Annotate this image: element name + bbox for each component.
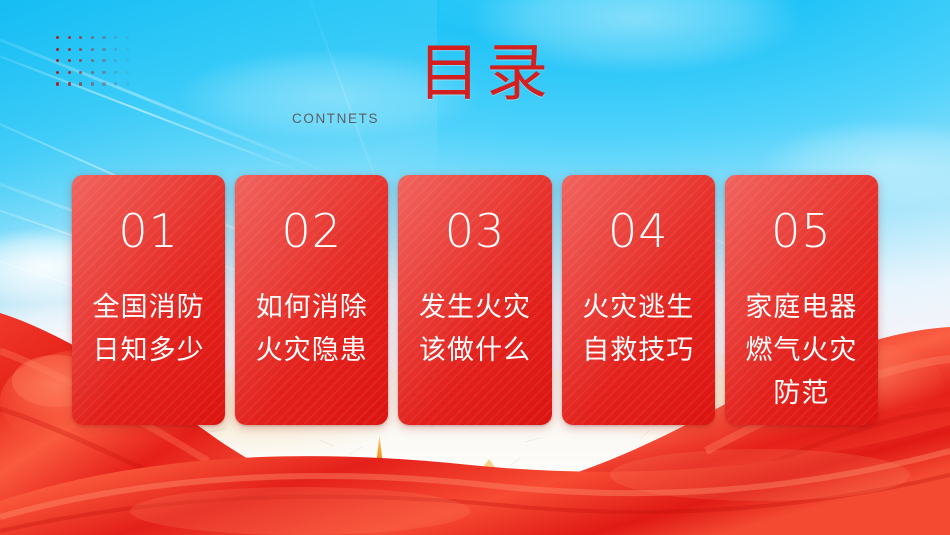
page-subtitle: CONTNETS bbox=[292, 111, 379, 126]
card-title: 全国消防日知多少 bbox=[83, 286, 215, 372]
card-number: 04 bbox=[608, 208, 669, 254]
contents-card-list: 01 全国消防日知多少 02 如何消除火灾隐患 03 发生火灾该做什么 04 火… bbox=[72, 175, 878, 425]
contents-card-04[interactable]: 04 火灾逃生自救技巧 bbox=[562, 175, 715, 425]
card-number: 01 bbox=[118, 208, 179, 254]
contents-card-02[interactable]: 02 如何消除火灾隐患 bbox=[235, 175, 388, 425]
presentation-slide: 目录 CONTNETS 01 全国消防日知多少 02 如何消除火灾隐患 03 发… bbox=[0, 0, 950, 535]
card-number: 03 bbox=[445, 208, 506, 254]
contents-card-05[interactable]: 05 家庭电器燃气火灾防范 bbox=[725, 175, 878, 425]
card-number: 02 bbox=[282, 208, 343, 254]
card-title: 火灾逃生自救技巧 bbox=[572, 286, 704, 372]
contents-card-03[interactable]: 03 发生火灾该做什么 bbox=[398, 175, 551, 425]
card-title: 家庭电器燃气火灾防范 bbox=[735, 286, 867, 415]
slide-header: 目录 CONTNETS bbox=[0, 0, 950, 150]
contents-card-01[interactable]: 01 全国消防日知多少 bbox=[72, 175, 225, 425]
page-title: 目录 bbox=[418, 42, 554, 104]
card-title: 发生火灾该做什么 bbox=[409, 286, 541, 372]
card-title: 如何消除火灾隐患 bbox=[246, 286, 378, 372]
card-number: 05 bbox=[771, 208, 832, 254]
